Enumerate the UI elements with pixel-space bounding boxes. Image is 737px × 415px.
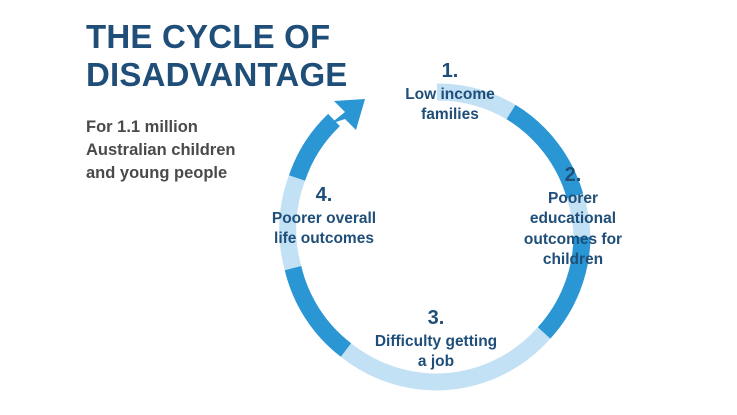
cycle-of-disadvantage-infographic: THE CYCLE OF DISADVANTAGE For 1.1 millio… [0, 0, 737, 415]
cycle-step-1-label-line-2: families [367, 105, 533, 125]
cycle-step-2-label-line-4: children [505, 250, 641, 270]
cycle-step-1-label-line-1: Low income [367, 85, 533, 105]
cycle-step-4-label-line-1: Poorer overall [238, 209, 410, 229]
cycle-step-3-label-line-2: a job [346, 352, 526, 372]
cycle-step-4: 4. Poorer overall life outcomes [238, 182, 410, 250]
cycle-step-3-label-line-1: Difficulty getting [346, 332, 526, 352]
arc-segment-3-dark [293, 268, 346, 350]
arc-segment-4-dark [297, 120, 334, 178]
cycle-step-1-number: 1. [367, 58, 533, 85]
cycle-step-2-label-line-1: Poorer [505, 189, 641, 209]
cycle-step-1: 1. Low income families [367, 58, 533, 126]
cycle-step-2-label-line-2: educational [505, 209, 641, 229]
cycle-step-3: 3. Difficulty getting a job [346, 305, 526, 373]
cycle-step-2-number: 2. [505, 162, 641, 189]
cycle-step-4-number: 4. [238, 182, 410, 209]
cycle-step-2-label-line-3: outcomes for [505, 230, 641, 250]
cycle-step-2: 2. Poorer educational outcomes for child… [505, 162, 641, 271]
cycle-step-3-number: 3. [346, 305, 526, 332]
cycle-step-4-label-line-2: life outcomes [238, 229, 410, 249]
